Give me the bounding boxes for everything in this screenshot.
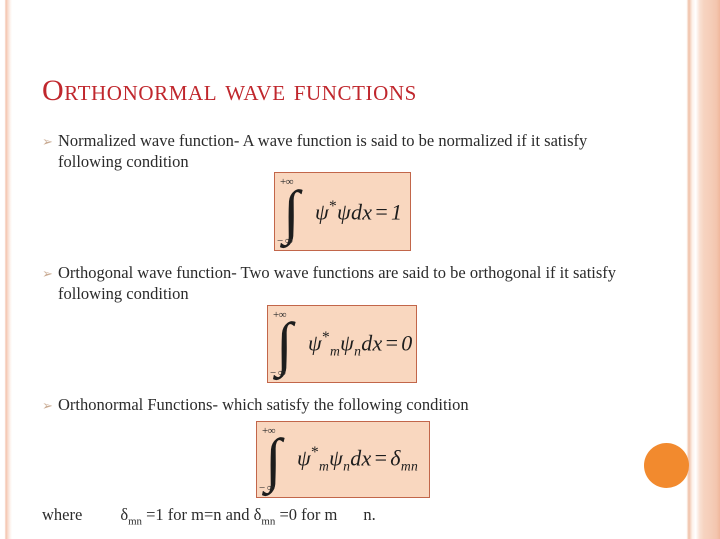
where-keyword: where: [42, 505, 82, 524]
list-item-text: Orthonormal Functions- which satisfy the…: [58, 394, 469, 415]
psi-conjugate: ψ: [315, 199, 329, 224]
chevron-right-icon: ➢: [42, 130, 58, 152]
equals-operator: =: [383, 330, 402, 355]
where-clause-first: =1 for m=n and: [146, 505, 249, 524]
where-definition-line: whereδmn =1 for m=n and δmn =0 for mn.: [42, 505, 376, 527]
chevron-right-icon: ➢: [42, 394, 58, 416]
left-edge-stripe: [0, 0, 12, 539]
delta-symbol-first: δ: [120, 505, 128, 524]
list-item-text: Orthogonal wave function- Two wave funct…: [58, 262, 623, 304]
psi-m-subscript: m: [330, 343, 340, 358]
equation-result: 1: [391, 199, 402, 224]
equation-box-normalization: +∞ ∫ − ∞ ψ*ψdx=1: [274, 172, 411, 251]
list-item-text: Normalized wave function- A wave functio…: [58, 130, 623, 172]
integral-lower-limit: − ∞: [277, 235, 292, 247]
psi-second: ψ: [337, 199, 351, 224]
integral-lower-limit: − ∞: [259, 482, 274, 494]
differential: dx: [361, 330, 382, 355]
integral-sign-icon: ∫: [283, 182, 299, 242]
psi-second: ψ: [329, 445, 343, 470]
delta-second-subscript: mn: [261, 515, 275, 527]
orange-circle-accent: [644, 443, 689, 488]
psi-conjugate: ψ: [297, 445, 311, 470]
equation-box-orthogonality: +∞ ∫ − ∞ ψ*mψndx=0: [267, 305, 417, 383]
integral-sign-icon: ∫: [276, 314, 292, 374]
integral-with-limits: +∞ ∫ − ∞: [268, 306, 308, 382]
differential: dx: [350, 445, 371, 470]
list-item: ➢ Orthogonal wave function- Two wave fun…: [42, 262, 623, 304]
equation-expression: ψ*mψndx=0: [308, 329, 413, 360]
conjugate-star: *: [322, 329, 330, 346]
integral-with-limits: +∞ ∫ − ∞: [257, 422, 297, 497]
page-title: Orthonormal wave functions: [42, 74, 417, 108]
psi-m-subscript: m: [319, 459, 329, 474]
list-item: ➢ Normalized wave function- A wave funct…: [42, 130, 623, 172]
equation-expression: ψ*mψndx=δmn: [297, 444, 418, 475]
chevron-right-icon: ➢: [42, 262, 58, 284]
psi-conjugate: ψ: [308, 330, 322, 355]
conjugate-star: *: [329, 198, 337, 215]
equation-box-orthonormality: +∞ ∫ − ∞ ψ*mψndx=δmn: [256, 421, 430, 498]
where-clause-second: =0 for m: [279, 505, 337, 524]
equation-expression: ψ*ψdx=1: [315, 198, 402, 225]
equals-operator: =: [372, 445, 391, 470]
slide: Orthonormal wave functions ➢ Normalized …: [0, 0, 720, 539]
delta-mn-subscript: mn: [401, 459, 418, 474]
integral-with-limits: +∞ ∫ − ∞: [275, 173, 315, 250]
integral-sign-icon: ∫: [265, 430, 281, 490]
psi-second: ψ: [340, 330, 354, 355]
where-clause-third: n.: [363, 505, 375, 524]
equation-result: δ: [390, 445, 401, 470]
delta-first-subscript: mn: [128, 515, 142, 527]
equation-result: 0: [401, 330, 412, 355]
integral-lower-limit: − ∞: [270, 367, 285, 379]
equals-operator: =: [372, 199, 391, 224]
differential: dx: [351, 199, 372, 224]
list-item: ➢ Orthonormal Functions- which satisfy t…: [42, 394, 469, 416]
conjugate-star: *: [311, 444, 319, 461]
